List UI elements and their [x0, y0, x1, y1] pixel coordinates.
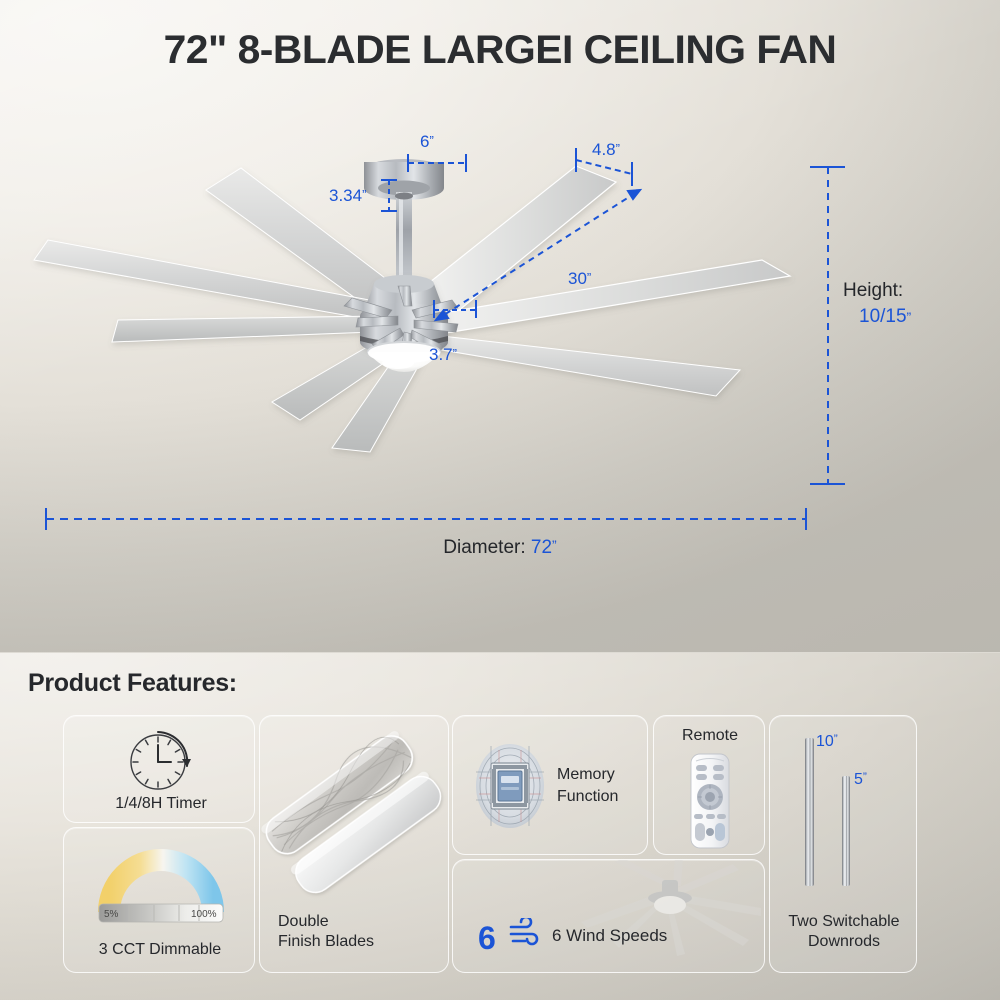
height-label-text: Height: — [843, 280, 903, 301]
feature-card-downrods[interactable]: 10” 5” Two Switchable Downrods — [769, 715, 917, 973]
feature-label-double-finish-blades: Double Finish Blades — [278, 912, 374, 951]
feature-card-timer[interactable]: 1/4/8H Timer — [63, 715, 255, 823]
downrod-label-line2: Downrods — [770, 932, 917, 952]
clock-timer-icon — [113, 726, 208, 798]
height-value-text: 10/15” — [843, 304, 911, 330]
feature-label-timer: 1/4/8H Timer — [86, 794, 236, 814]
ceiling-fan-illustration — [0, 120, 1000, 540]
hero-panel: 72" 8-BLADE LARGEI CEILING FAN — [0, 0, 1000, 652]
features-panel: Product Features: — [0, 652, 1000, 1000]
memory-label-line2: Function — [557, 786, 618, 808]
dim-label-blade-width: 4.8” — [592, 140, 620, 160]
feature-label-remote: Remote — [654, 726, 765, 746]
dim-label-blade-length: 30” — [568, 269, 591, 289]
dim-label-height: Height: 10/15” — [843, 278, 911, 329]
feature-card-memory-function[interactable]: Memory Function — [452, 715, 648, 855]
memory-chip-icon — [467, 738, 553, 834]
feature-label-downrods: Two Switchable Downrods — [770, 912, 917, 952]
downrod-label-line1: Two Switchable — [770, 912, 917, 932]
diameter-value-text: 72 — [531, 537, 552, 558]
blades-label-line2: Finish Blades — [278, 932, 374, 952]
feature-card-cct-dimmable[interactable]: 5% 100% 3 CCT Dimmable — [63, 827, 255, 973]
feature-label-wind-speeds: 6 Wind Speeds — [552, 926, 667, 947]
diameter-label-text: Diameter: — [443, 537, 525, 558]
feature-label-memory-function: Memory Function — [557, 764, 618, 809]
dim-label-diameter: Diameter: 72” — [0, 537, 1000, 559]
infographic-canvas: 72" 8-BLADE LARGEI CEILING FAN — [0, 0, 1000, 1000]
feature-card-double-finish-blades[interactable]: Double Finish Blades — [259, 715, 449, 973]
cct-slider-min-label: 5% — [104, 909, 119, 920]
blades-label-line1: Double — [278, 912, 374, 932]
page-title: 72" 8-BLADE LARGEI CEILING FAN — [0, 28, 1000, 73]
downrod-icon — [770, 716, 917, 906]
remote-control-icon — [686, 752, 734, 850]
dim-label-canopy-width: 6” — [420, 132, 434, 152]
downrod-short-label: 5” — [854, 770, 867, 789]
cct-gradient-arc-icon: 5% 100% — [91, 844, 231, 936]
feature-label-cct-dimmable: 3 CCT Dimmable — [74, 940, 246, 960]
dual-finish-blade-icon — [259, 716, 446, 916]
wind-speed-icon — [508, 918, 542, 948]
feature-card-remote[interactable]: Remote — [653, 715, 765, 855]
wind-speed-count: 6 — [478, 922, 496, 954]
dim-label-canopy-height: 3.34” — [329, 186, 366, 206]
dim-label-housing-depth: 3.7” — [429, 345, 457, 365]
memory-label-line1: Memory — [557, 764, 618, 786]
feature-card-wind-speeds[interactable]: 6 6 Wind Speeds — [452, 859, 765, 973]
downrod-long-label: 10” — [816, 732, 838, 751]
fan-svg — [0, 120, 1000, 540]
downrod-and-canopy — [364, 159, 444, 276]
cct-slider-max-label: 100% — [191, 909, 217, 920]
features-heading: Product Features: — [28, 669, 237, 698]
